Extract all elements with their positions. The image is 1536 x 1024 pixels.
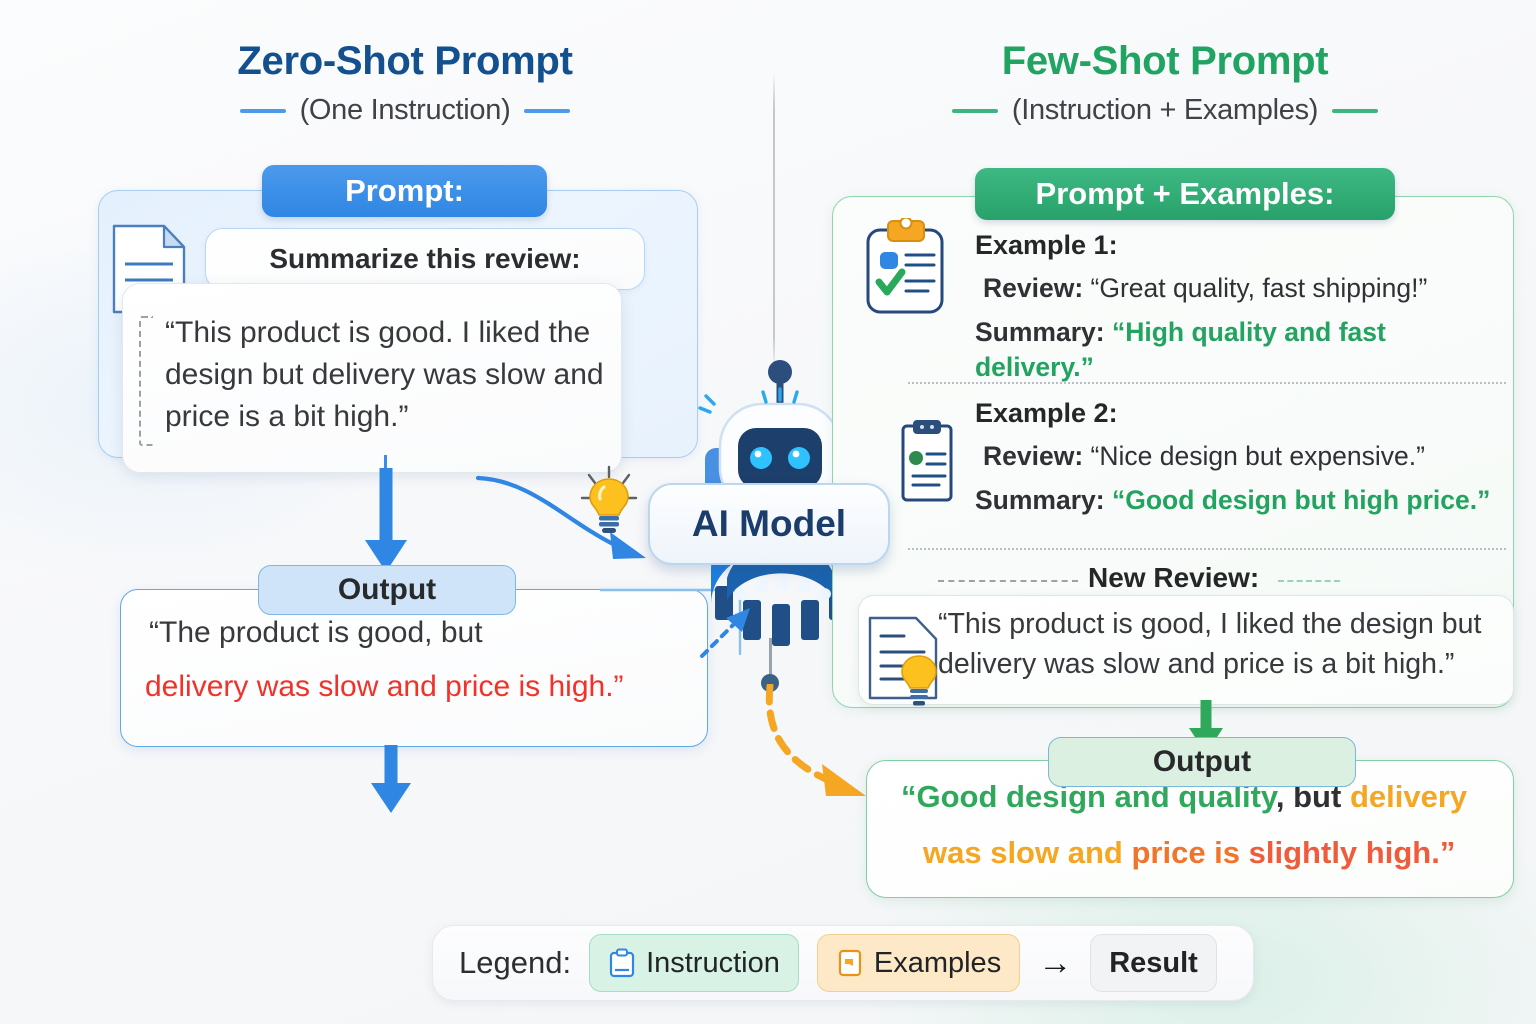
example-1-label: Example 1: (975, 230, 1505, 261)
example-1-review-text: “Great quality, fast shipping!” (1091, 273, 1428, 303)
example-separator-1 (908, 382, 1506, 384)
new-review-label: New Review: (1088, 562, 1259, 594)
example-separator-2 (908, 548, 1506, 550)
zero-shot-dash-right (524, 109, 570, 113)
zero-shot-heading: Zero-Shot Prompt (One Instruction) (90, 40, 720, 127)
zero-shot-output-tab: Output (258, 565, 516, 615)
few-shot-subtitle: (Instruction + Examples) (1012, 94, 1318, 127)
clipboard-icon-small (608, 948, 636, 978)
zero-shot-subtitle: (One Instruction) (300, 94, 511, 127)
zero-shot-output-tab-label: Output (338, 573, 436, 607)
example-2-summary-label: Summary: (975, 485, 1105, 515)
quote-bracket (139, 316, 153, 446)
legend-item-examples[interactable]: Examples (817, 934, 1020, 992)
review-text: “This product is good. I liked the desig… (165, 312, 605, 438)
note-clipboard-icon (893, 418, 961, 506)
output-to-model-dotted-arrow (698, 600, 768, 670)
zs-arrow-down-2 (363, 745, 419, 817)
example-1-review: Review: “Great quality, fast shipping!” (975, 271, 1505, 305)
few-shot-heading: Few-Shot Prompt (Instruction + Examples) (830, 40, 1500, 127)
prompt-badge-label: Prompt: (345, 173, 464, 209)
zero-shot-output-line-2: delivery was slow and price is high.” (145, 666, 624, 708)
legend: Legend: Instruction Examples → (432, 925, 1254, 1001)
new-review-dash-right (1278, 580, 1340, 582)
legend-arrow-icon: → (1038, 946, 1072, 980)
legend-item-result[interactable]: Result (1090, 934, 1217, 992)
instruction-text: Summarize this review: (269, 243, 580, 275)
fs-out-orange2: was slow and (923, 835, 1123, 870)
ai-model-label: AI Model (692, 503, 846, 545)
fs-out-orange: delivery (1350, 779, 1467, 814)
zs-arrow-down-1 (358, 468, 414, 578)
prompt-examples-badge: Prompt + Examples: (975, 168, 1395, 220)
example-2-review-label: Review: (983, 441, 1083, 471)
legend-result-label: Result (1109, 947, 1198, 980)
fs-out-openquote: “ (901, 779, 917, 814)
legend-examples-label: Examples (874, 947, 1001, 980)
note-icon-small (836, 948, 864, 978)
few-shot-output-tab: Output (1048, 737, 1356, 787)
example-2-summary: Summary: “Good design but high price.” (975, 483, 1505, 517)
few-shot-dash-right (1332, 109, 1378, 113)
example-1-summary-label: Summary: (975, 317, 1105, 347)
review-card: “This product is good. I liked the desig… (122, 283, 622, 473)
few-shot-dash-left (952, 109, 998, 113)
fs-out-tomato: slightly high.” (1249, 835, 1456, 870)
few-shot-output-tab-label: Output (1153, 745, 1251, 779)
fs-out-orangered: price is (1131, 835, 1240, 870)
center-divider (773, 72, 775, 372)
model-output-stem (769, 638, 772, 678)
instruction-card: Summarize this review: (205, 228, 645, 290)
example-2-block: Example 2: Review: “Nice design but expe… (975, 398, 1505, 518)
example-2-review: Review: “Nice design but expensive.” (975, 439, 1505, 473)
legend-item-instruction[interactable]: Instruction (589, 934, 799, 992)
example-1-review-label: Review: (983, 273, 1083, 303)
prompt-examples-badge-label: Prompt + Examples: (1036, 176, 1335, 212)
few-shot-output-line-2: was slow and price is slightly high.” (923, 837, 1455, 868)
lightbulb-icon-left (578, 465, 640, 537)
zero-shot-output-line-1: “The product is good, but (149, 612, 483, 654)
prompt-badge: Prompt: (262, 165, 547, 217)
example-2-label: Example 2: (975, 398, 1505, 429)
legend-instruction-label: Instruction (646, 947, 780, 980)
zero-shot-title: Zero-Shot Prompt (90, 40, 720, 82)
ai-model-plate: AI Model (648, 483, 890, 565)
zero-shot-dash-left (240, 109, 286, 113)
diagram-canvas: Zero-Shot Prompt (One Instruction) Few-S… (0, 0, 1536, 1024)
example-2-summary-text: “Good design but high price.” (1112, 485, 1490, 515)
example-2-review-text: “Nice design but expensive.” (1091, 441, 1425, 471)
clipboard-icon (858, 218, 952, 318)
example-1-summary: Summary: “High quality and fast delivery… (975, 315, 1505, 384)
new-review-dash-left (938, 580, 1078, 582)
legend-title: Legend: (459, 945, 571, 981)
new-review-text: “This product is good, I liked the desig… (938, 604, 1516, 685)
few-shot-title: Few-Shot Prompt (830, 40, 1500, 82)
example-1-block: Example 1: Review: “Great quality, fast … (975, 230, 1505, 384)
